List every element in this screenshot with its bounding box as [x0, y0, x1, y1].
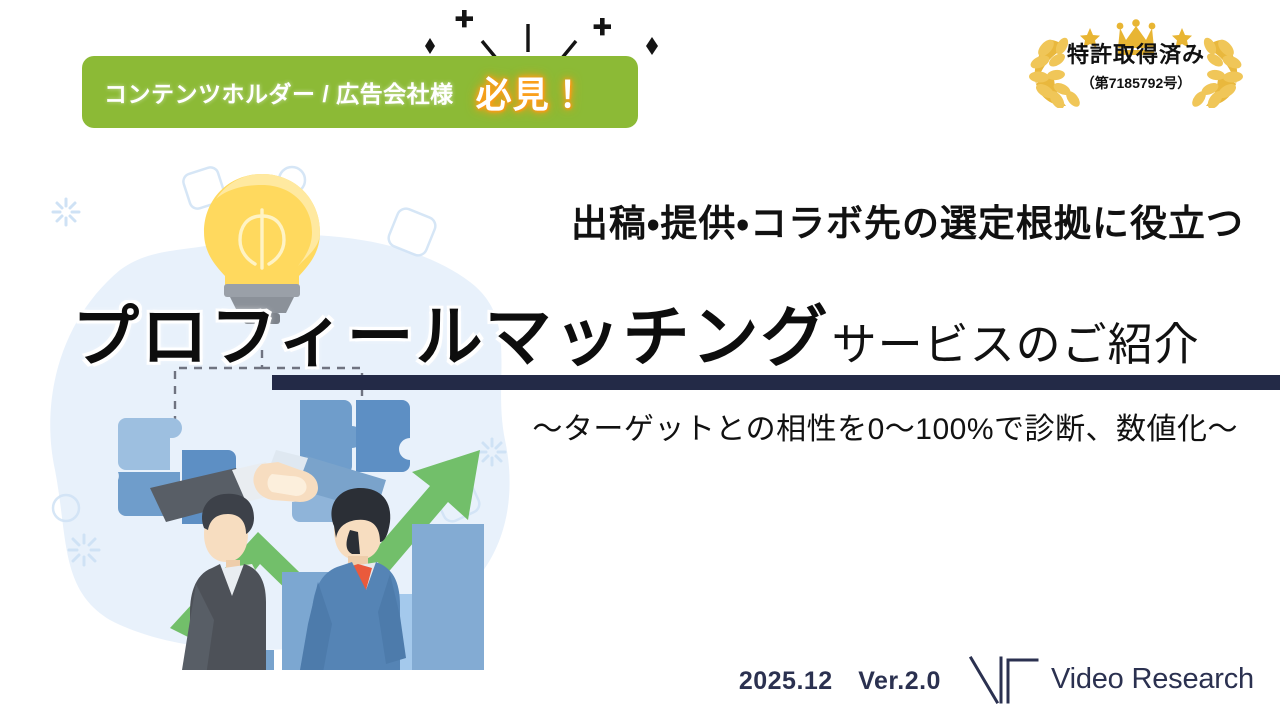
version-text: 2025.12 Ver.2.0 — [739, 661, 941, 697]
audience-callout-badge: コンテンツホルダー / 広告会社様 必見！ — [82, 56, 638, 128]
hero-illustration — [0, 150, 560, 670]
plus-sparkle — [456, 10, 611, 35]
must-see-accent: 必見！ — [476, 66, 587, 118]
page-title: プロフィールマッチング サービスのご紹介 — [72, 283, 1200, 380]
patent-number: （第7185792号） — [1081, 73, 1192, 93]
title-secondary: サービスのご紹介 — [832, 308, 1200, 373]
title-primary: プロフィールマッチング — [72, 283, 830, 380]
diamond-sparkle — [425, 37, 658, 55]
kicker-text: 出稿・提供・コラボ先の選定根拠に役立つ — [571, 193, 1244, 247]
tagline-text: 〜ターゲットとの相性を0〜100%で診断、数値化〜 — [532, 404, 1238, 448]
brand-name: Video Research — [1051, 663, 1254, 696]
patent-badge: 特許取得済み （第7185792号） — [1010, 6, 1262, 108]
patent-label: 特許取得済み — [1067, 37, 1205, 69]
audience-label: コンテンツホルダー / 広告会社様 — [104, 75, 454, 109]
footer: 2025.12 Ver.2.0 Video Research — [739, 652, 1254, 706]
video-research-logo-icon — [967, 652, 1039, 706]
brand-lockup: Video Research — [967, 652, 1254, 706]
slide-canvas: コンテンツホルダー / 広告会社様 必見！ — [0, 0, 1280, 720]
